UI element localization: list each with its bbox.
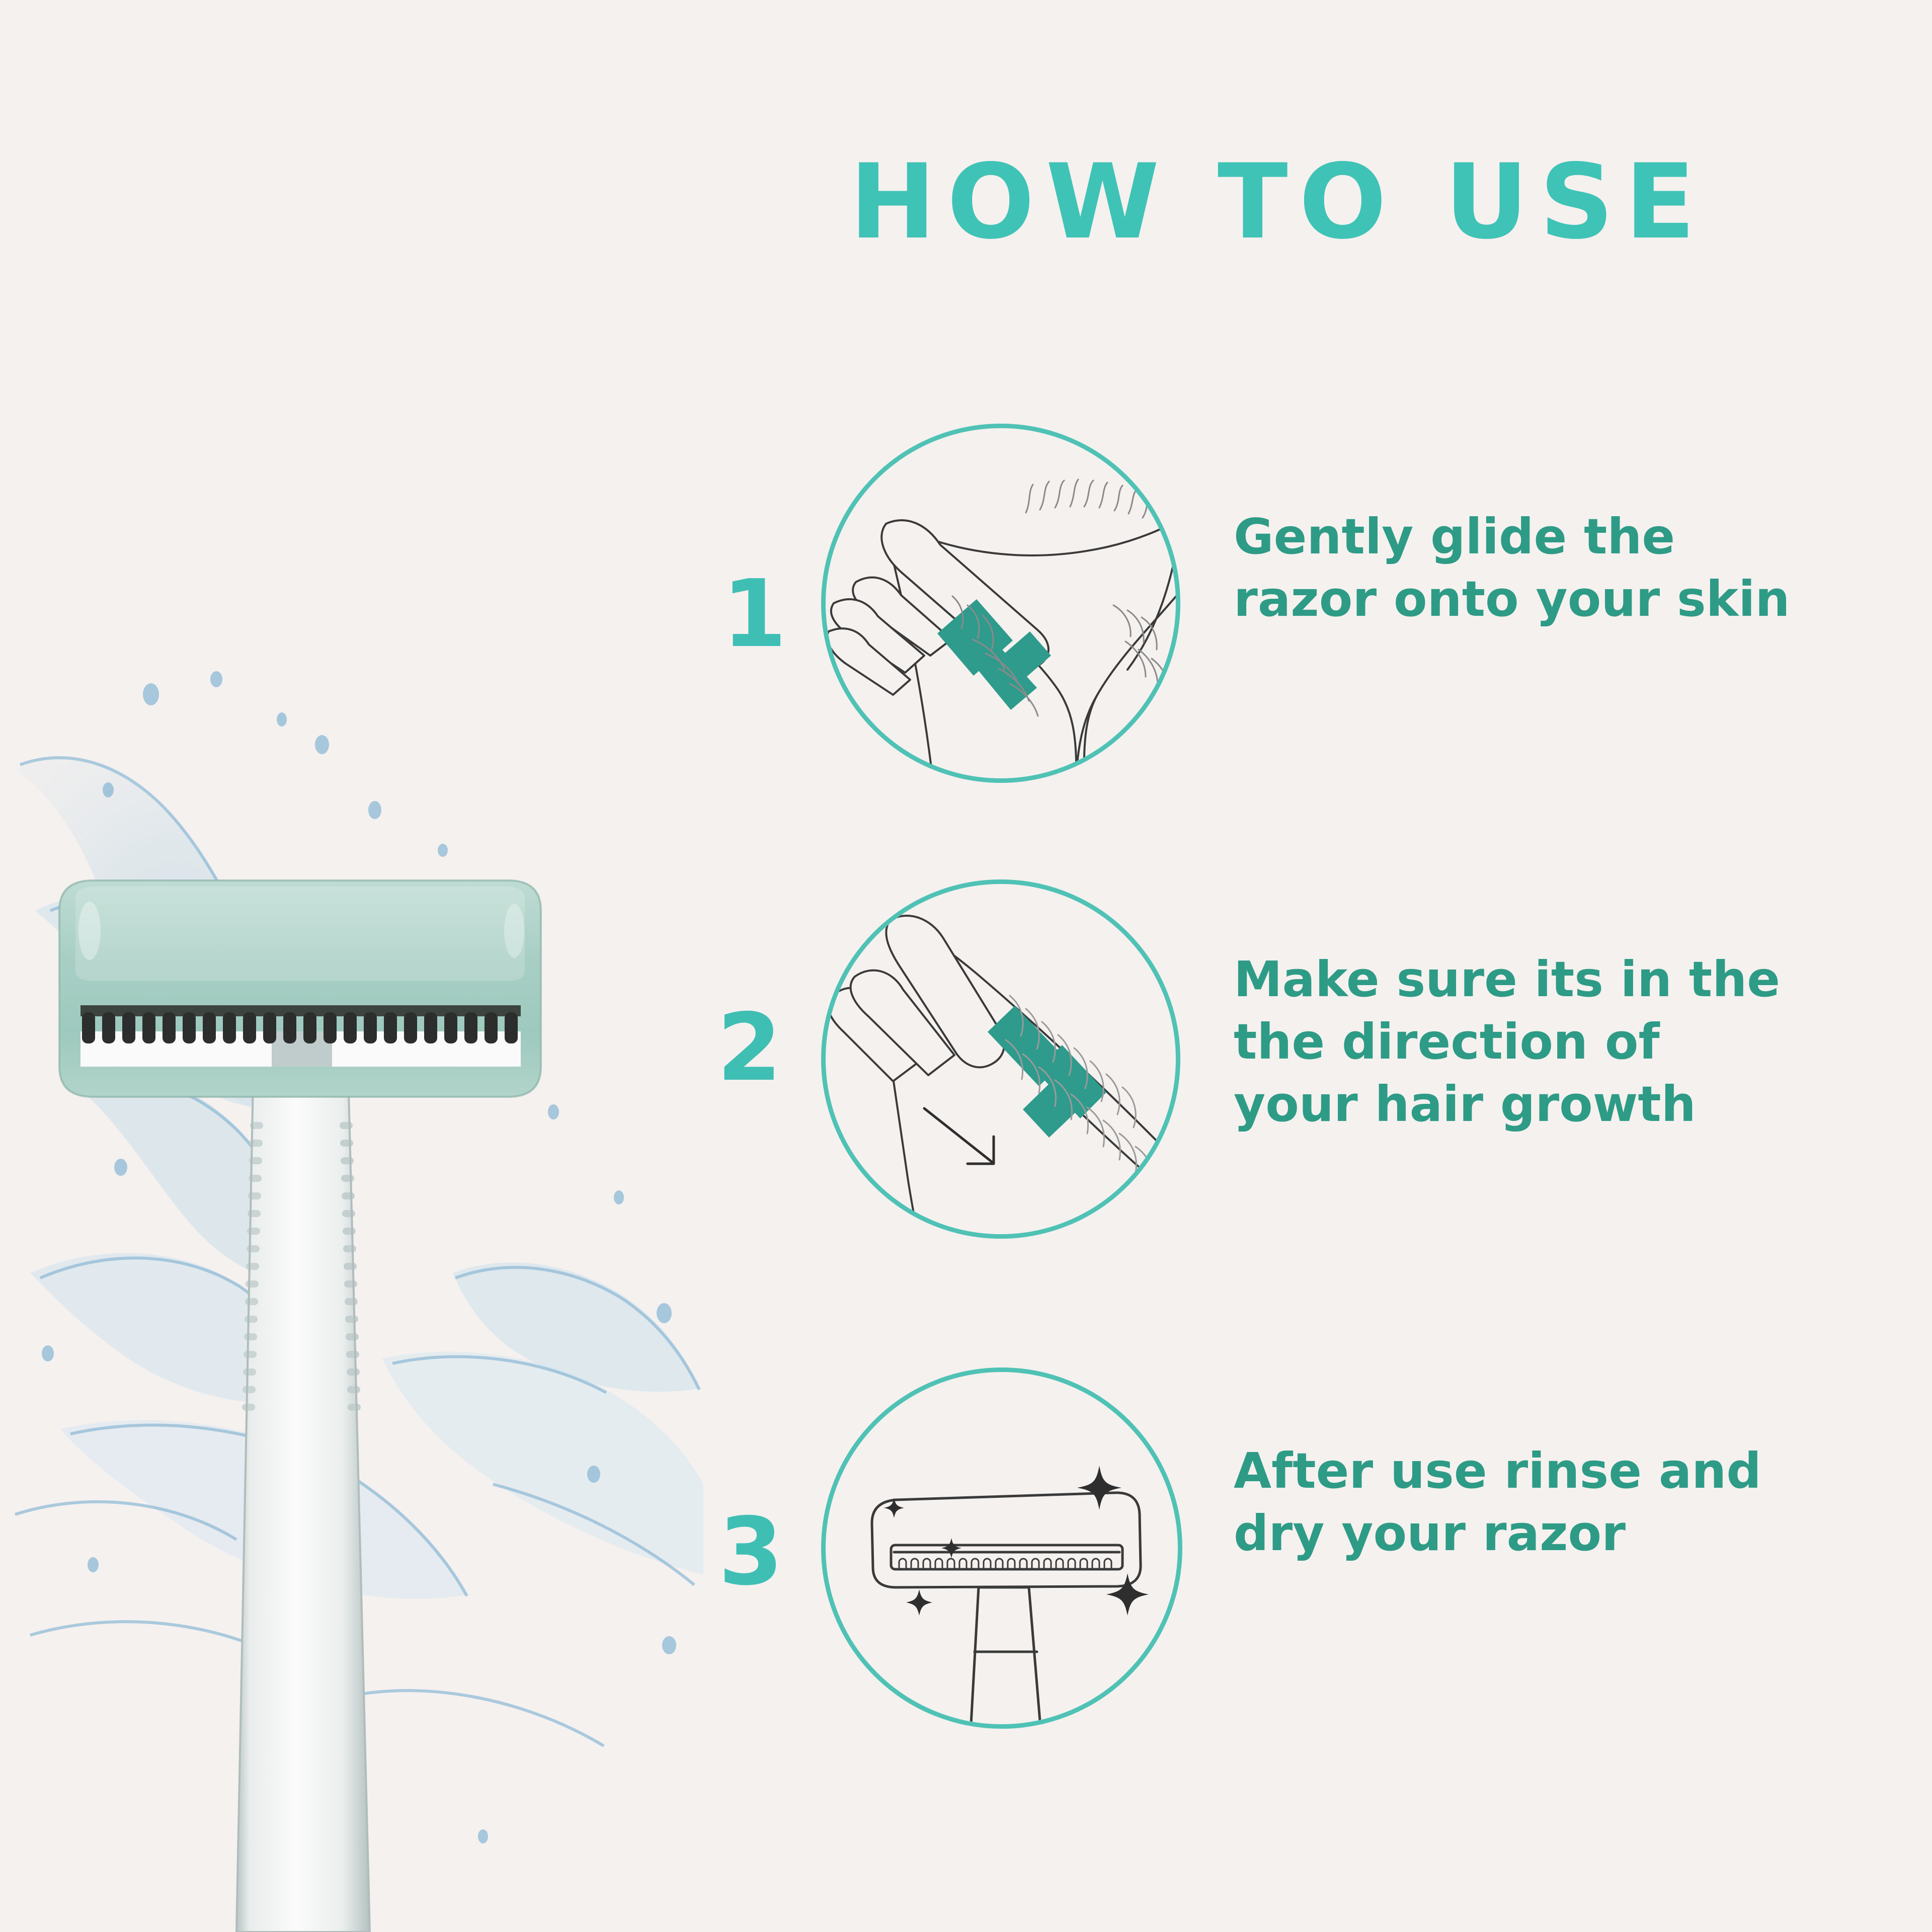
- teal-razor-icon: [988, 1006, 1106, 1138]
- step-1-illustration: [821, 424, 1180, 783]
- step-1-number: 1: [722, 568, 787, 661]
- page-title: HOW TO USE: [825, 151, 1731, 254]
- razor-handle: [236, 1031, 370, 1932]
- step-2-text: Make sure its in the the direction of yo…: [1234, 948, 1797, 1136]
- direction-arrow-icon: [924, 1108, 994, 1164]
- step-2-number: 2: [717, 1001, 782, 1094]
- step-3-illustration: [821, 1367, 1182, 1729]
- sparkle-icon: [884, 1466, 1149, 1616]
- step-1-text: Gently glide the razor onto your skin: [1234, 506, 1797, 630]
- step-2-illustration: [821, 879, 1180, 1239]
- step-3-number: 3: [718, 1505, 783, 1598]
- razor-head: [59, 880, 541, 1097]
- product-image: [0, 528, 704, 1932]
- step-3-text: After use rinse and dry your razor: [1234, 1440, 1797, 1565]
- poster-canvas: HOW TO USE 1: [0, 0, 1932, 1932]
